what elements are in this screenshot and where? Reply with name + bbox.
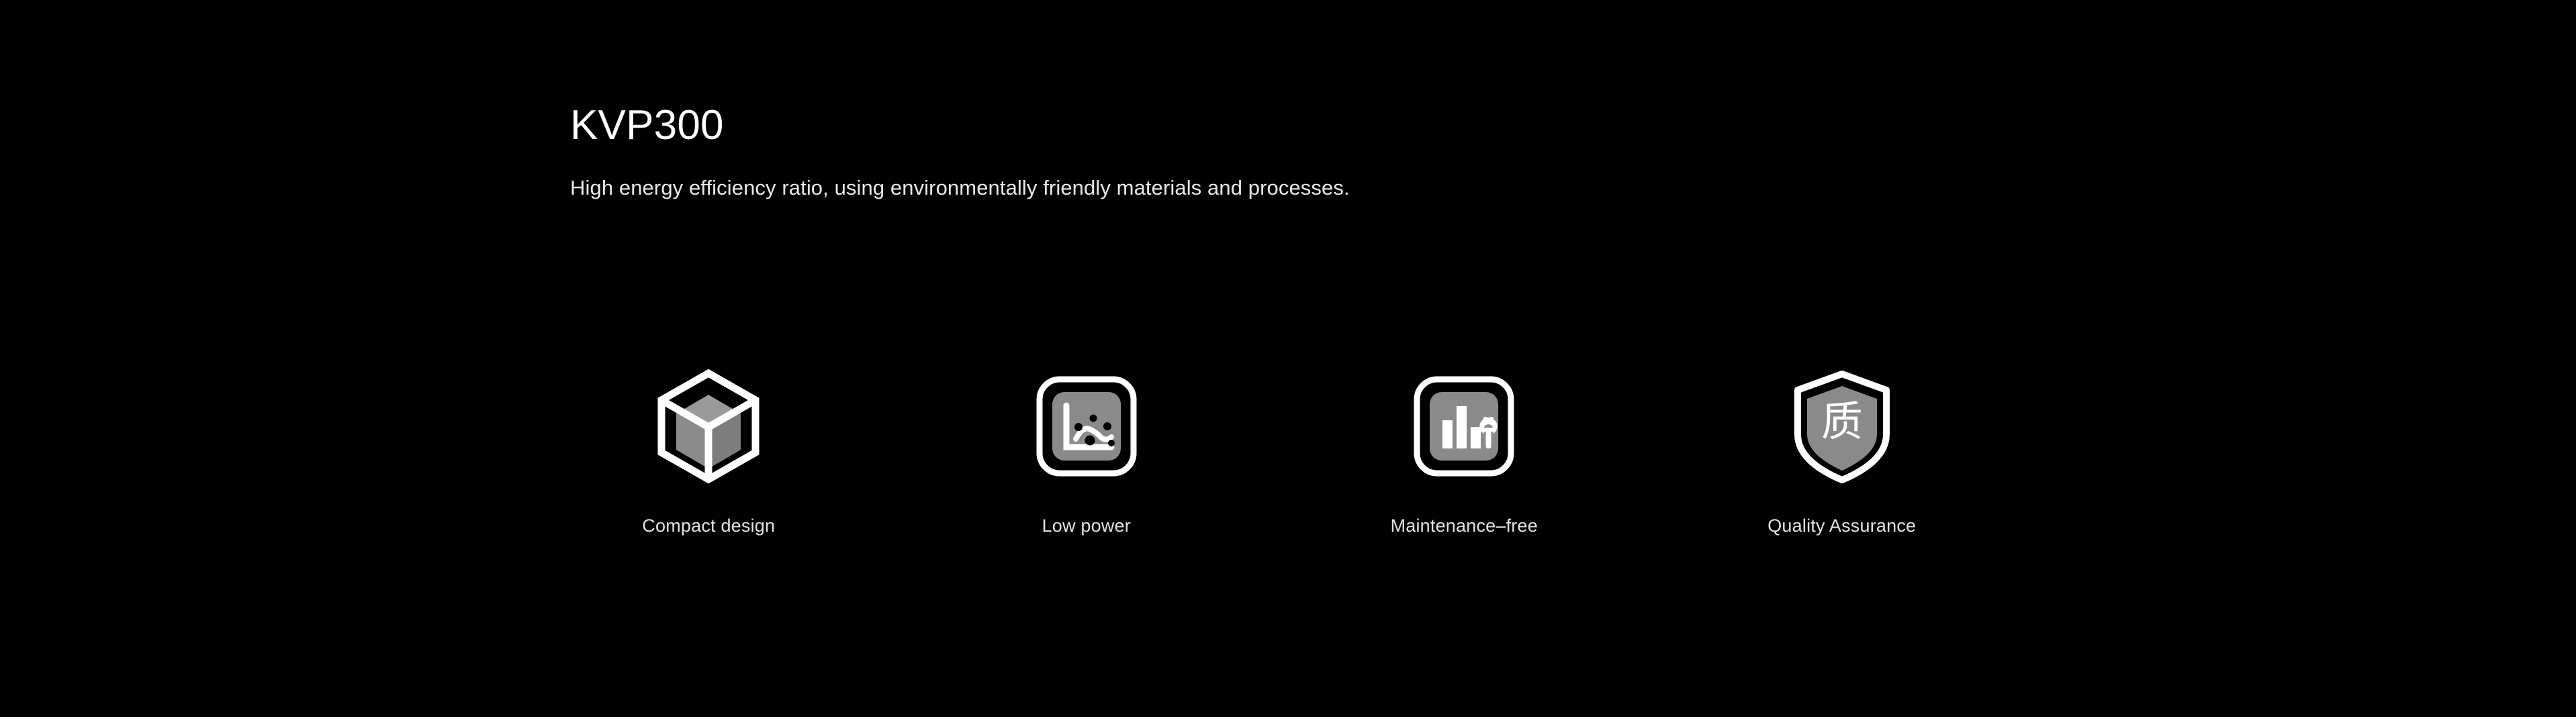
feature-label: Quality Assurance — [1767, 515, 1916, 536]
feature-item-quality-assurance[interactable]: 质 Quality Assurance — [1653, 366, 2031, 536]
feature-item-low-power[interactable]: Low power — [898, 366, 1276, 536]
bar-chart-wrench-rounded-square-icon — [1404, 366, 1524, 487]
heading-block: KVP300 High energy efficiency ratio, usi… — [570, 102, 2182, 203]
shield-quality-icon: 质 — [1782, 366, 1902, 487]
isometric-cube-icon — [648, 366, 769, 487]
shield-glyph: 质 — [1821, 397, 1863, 446]
feature-label: Maintenance–free — [1391, 515, 1538, 536]
product-feature-section: KVP300 High energy efficiency ratio, usi… — [0, 0, 2576, 717]
page-subtitle: High energy efficiency ratio, using envi… — [570, 148, 2182, 203]
feature-list: Compact design — [520, 366, 2031, 536]
feature-item-maintenance-free[interactable]: Maintenance–free — [1275, 366, 1653, 536]
feature-label: Low power — [1042, 515, 1131, 536]
page-title: KVP300 — [570, 102, 2182, 148]
feature-label: Compact design — [642, 515, 775, 536]
feature-item-compact-design[interactable]: Compact design — [520, 366, 898, 536]
chart-scatter-rounded-square-icon — [1026, 366, 1147, 487]
